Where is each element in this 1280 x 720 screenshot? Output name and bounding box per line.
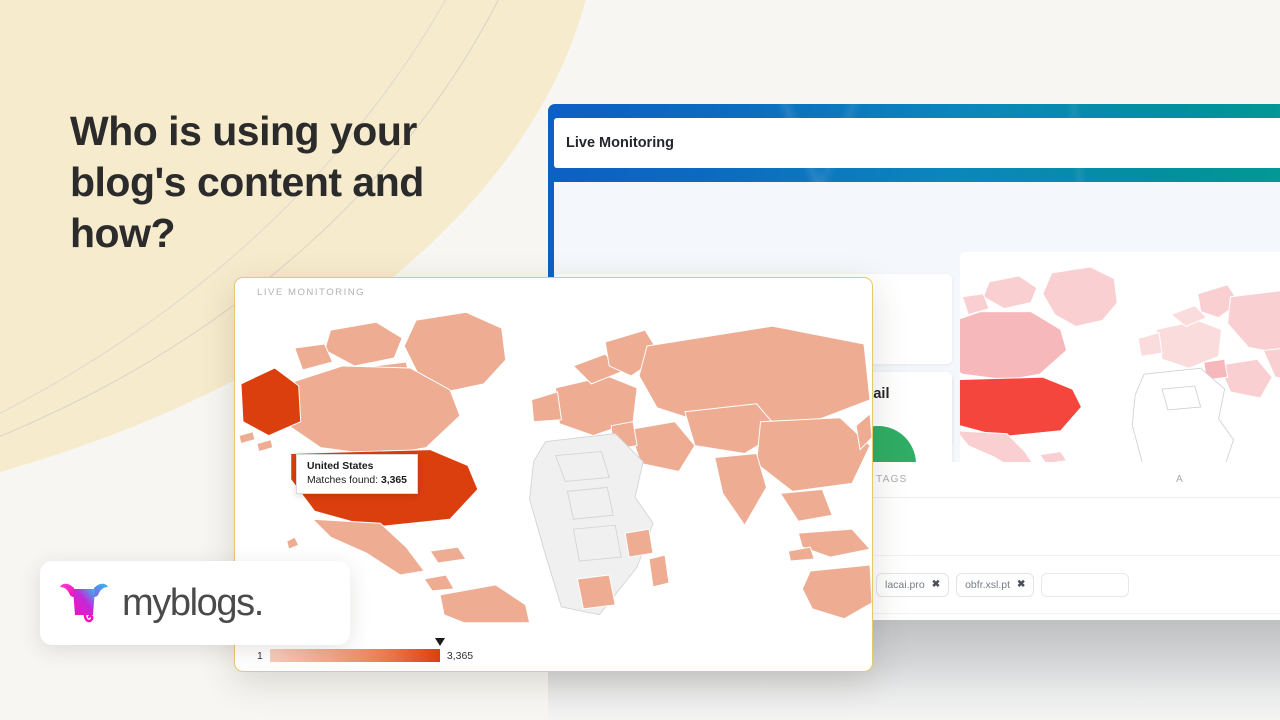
legend-gradient-bar [270, 649, 440, 662]
map-tooltip: United States Matches found: 3,365 [296, 454, 418, 494]
triangle-marker-icon [435, 638, 445, 646]
bull-head-icon [58, 579, 110, 627]
front-card-label: LIVE MONITORING [257, 287, 365, 298]
column-header-tags: TAGS [876, 474, 1176, 485]
tag-label: obfr.xsl.pt [965, 579, 1010, 591]
brand-name: myblogs. [122, 582, 263, 625]
bull-head-svg [58, 579, 110, 627]
tag-chip[interactable]: obfr.xsl.pt ✖ [956, 573, 1034, 597]
tag-list: lacai.pro ✖ obfr.xsl.pt ✖ [876, 565, 1176, 605]
tooltip-metric: Matches found: 3,365 [307, 475, 407, 486]
column-header-actions: A [1176, 474, 1280, 485]
tooltip-country-name: United States [307, 461, 407, 472]
map-color-legend: 1 3,365 [257, 649, 473, 662]
tag-chip[interactable]: lacai.pro ✖ [876, 573, 949, 597]
page-headline: Who is using your blog's content and how… [70, 106, 510, 258]
tooltip-metric-value: 3,365 [381, 475, 407, 486]
dashboard-titlebar: Live Monitoring [554, 118, 1280, 168]
tag-chip-partial[interactable] [1041, 573, 1129, 597]
tag-label: lacai.pro [885, 579, 925, 591]
close-icon[interactable]: ✖ [932, 579, 940, 590]
brand-logo-card: myblogs. [40, 561, 350, 645]
cell-tags: lacai.pro ✖ obfr.xsl.pt ✖ [876, 565, 1176, 605]
dashboard-title: Live Monitoring [566, 135, 674, 151]
legend-max-value: 3,365 [447, 650, 473, 662]
legend-min-value: 1 [257, 650, 263, 662]
tooltip-metric-label: Matches found: [307, 475, 378, 486]
close-icon[interactable]: ✖ [1017, 579, 1025, 590]
